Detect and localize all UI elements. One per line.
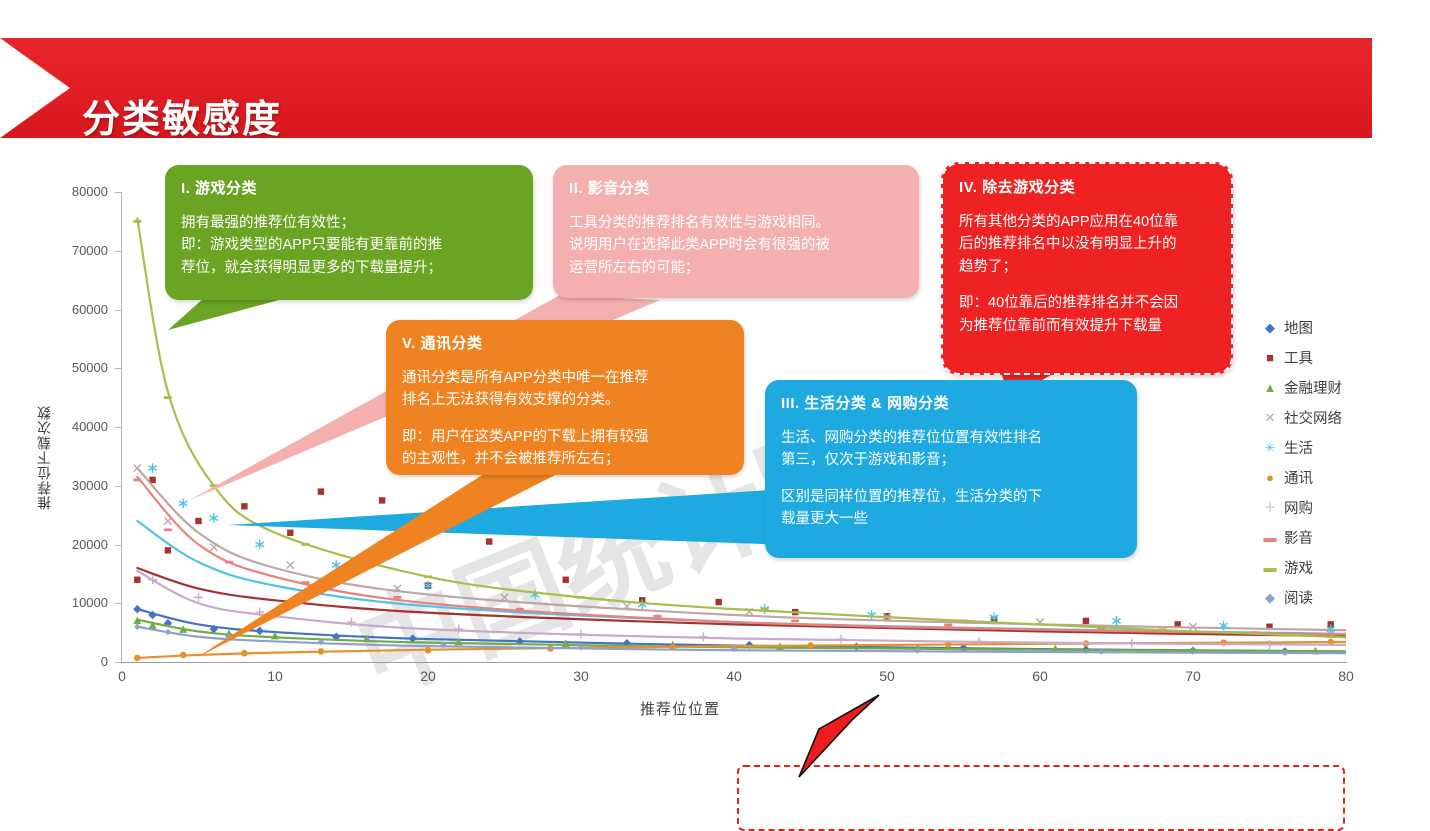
page-title: 分类敏感度 [82, 88, 282, 143]
y-axis-tick [115, 662, 121, 663]
data-point-marker [133, 220, 141, 223]
x-axis-tick-label: 10 [255, 668, 295, 684]
data-point-marker [1327, 635, 1335, 638]
callout-life-body-1: 生活、网购分类的推荐位位置有效性排名 第三，仅次于游戏和影音； [781, 427, 1121, 472]
data-point-marker [516, 608, 524, 611]
data-point-marker [287, 530, 293, 536]
callout-excluding-games[interactable]: IV. 除去游戏分类 所有其他分类的APP应用在40位靠 后的推荐排名中以没有明… [941, 162, 1233, 375]
chart-legend: ◆地图■工具▲金融理财✕社交网络✳生活●通讯＋网购▬影音▬游戏◆阅读 [1262, 312, 1392, 612]
legend-item-工具[interactable]: ■工具 [1262, 342, 1392, 372]
data-point-marker [241, 503, 247, 509]
y-axis-tick-label: 80000 [38, 184, 108, 199]
legend-item-label: 金融理财 [1284, 377, 1342, 398]
data-point-marker [1112, 616, 1120, 626]
data-point-marker [944, 624, 952, 627]
data-point-marker [165, 629, 171, 635]
legend-marker-icon: ＋ [1262, 501, 1278, 514]
data-point-marker [379, 497, 385, 503]
data-point-marker [1158, 628, 1166, 631]
highlight-arrow-icon [793, 693, 883, 783]
callout-media-title: II. 影音分类 [569, 177, 903, 198]
legend-item-网购[interactable]: ＋网购 [1262, 492, 1392, 522]
x-axis-tick-label: 0 [102, 668, 142, 684]
data-point-marker [134, 465, 141, 472]
y-axis-tick [115, 251, 121, 252]
legend-item-label: 社交网络 [1284, 407, 1342, 428]
y-axis-tick-label: 60000 [38, 302, 108, 317]
data-point-marker [531, 590, 539, 600]
y-axis-tick-label: 0 [38, 654, 108, 669]
data-point-marker [134, 655, 141, 662]
legend-item-金融理财[interactable]: ▲金融理财 [1262, 372, 1392, 402]
data-point-marker [256, 627, 264, 635]
y-axis-tick-label: 50000 [38, 360, 108, 375]
legend-marker-icon: ◆ [1262, 591, 1278, 604]
data-point-marker [302, 543, 310, 546]
data-point-marker [761, 608, 769, 611]
legend-item-通讯[interactable]: ●通讯 [1262, 462, 1392, 492]
banner-notch [0, 38, 70, 138]
data-point-marker [791, 619, 799, 622]
x-axis-line [121, 662, 1347, 663]
data-point-marker [180, 652, 187, 659]
x-axis-tick-label: 50 [867, 668, 907, 684]
callout-game-title: I. 游戏分类 [181, 177, 517, 198]
trend-line [137, 477, 1346, 634]
x-axis-tick-label: 30 [561, 668, 601, 684]
x-axis-tick-label: 80 [1326, 668, 1366, 684]
data-point-marker [318, 488, 324, 494]
data-point-marker [133, 478, 141, 481]
data-point-marker [164, 528, 172, 531]
y-axis-tick [115, 192, 121, 193]
legend-item-label: 生活 [1284, 437, 1313, 458]
data-point-marker [332, 560, 340, 570]
legend-item-游戏[interactable]: ▬游戏 [1262, 552, 1392, 582]
callout-life-title: III. 生活分类 & 网购分类 [781, 392, 1121, 413]
legend-item-label: 通讯 [1284, 467, 1313, 488]
data-point-marker [302, 581, 310, 584]
y-axis-tick [115, 545, 121, 546]
callout-media-body: 工具分类的推荐排名有效性与游戏相同。 说明用户在选择此类APP时会有很强的被 运… [569, 212, 903, 279]
data-point-marker [868, 610, 876, 620]
data-point-marker [716, 599, 722, 605]
data-point-marker [164, 396, 172, 399]
data-point-marker [563, 577, 569, 583]
legend-item-label: 阅读 [1284, 587, 1313, 608]
legend-marker-icon: ✕ [1262, 411, 1278, 424]
callout-game[interactable]: I. 游戏分类 拥有最强的推荐位有效性； 即：游戏类型的APP只要能有更靠前的推… [165, 165, 533, 300]
legend-item-阅读[interactable]: ◆阅读 [1262, 582, 1392, 612]
callout-communication[interactable]: V. 通讯分类 通讯分类是所有APP分类中唯一在推荐 排名上无法获得有效支撑的分… [386, 320, 744, 475]
y-axis-tick-label: 10000 [38, 595, 108, 610]
legend-marker-icon: ▲ [1262, 381, 1278, 394]
data-point-marker [577, 629, 586, 638]
series-工具 [134, 477, 1346, 636]
legend-marker-icon: ▬ [1262, 561, 1278, 574]
callout-life-shopping[interactable]: III. 生活分类 & 网购分类 生活、网购分类的推荐位位置有效性排名 第三，仅… [765, 380, 1137, 558]
legend-item-label: 地图 [1284, 317, 1313, 338]
data-point-marker [807, 642, 814, 649]
x-axis-tick-label: 70 [1173, 668, 1213, 684]
data-point-marker [225, 561, 233, 564]
data-point-marker [960, 619, 968, 622]
y-axis-tick [115, 603, 121, 604]
callout-media[interactable]: II. 影音分类 工具分类的推荐排名有效性与游戏相同。 说明用户在选择此类APP… [553, 165, 919, 298]
callout-comm-body-1: 通讯分类是所有APP分类中唯一在推荐 排名上无法获得有效支撑的分类。 [402, 367, 728, 412]
legend-item-label: 影音 [1284, 527, 1313, 548]
data-point-marker [194, 593, 203, 602]
data-point-marker [1083, 618, 1089, 624]
data-point-marker [318, 648, 325, 655]
data-point-marker [425, 647, 432, 654]
legend-marker-icon: ● [1262, 471, 1278, 484]
legend-item-生活[interactable]: ✳生活 [1262, 432, 1392, 462]
legend-item-label: 网购 [1284, 497, 1313, 518]
data-point-marker [699, 632, 708, 641]
legend-marker-icon: ✳ [1262, 441, 1278, 454]
x-axis-title: 推荐位位置 [640, 698, 720, 719]
data-point-marker [837, 635, 846, 644]
data-point-marker [210, 544, 217, 551]
title-banner: 分类敏感度 [0, 38, 1372, 138]
data-point-marker [134, 624, 140, 630]
callout-nogame-title: IV. 除去游戏分类 [959, 176, 1215, 197]
legend-marker-icon: ■ [1262, 351, 1278, 364]
x-axis-tick-label: 40 [714, 668, 754, 684]
data-point-marker [287, 561, 294, 568]
data-point-marker [454, 625, 463, 634]
callout-nogame-body-1: 所有其他分类的APP应用在40位靠 后的推荐排名中以没有明显上升的 趋势了； [959, 211, 1215, 278]
callout-comm-body-2: 即：用户在这类APP的下载上拥有较强 的主观性，并不会被推荐所左右； [402, 426, 728, 471]
slide-canvas: 分类敏感度 中国统计网 推荐位下载次数 推荐位位置 01000020000300… [0, 0, 1430, 803]
data-point-marker [165, 547, 171, 553]
y-axis-tick-label: 30000 [38, 478, 108, 493]
callout-nogame-body-2: 即：40位靠后的推荐排名并不会因 为推荐位靠前而有效提升下载量 [959, 292, 1215, 337]
data-point-marker [654, 615, 662, 618]
data-point-marker [1127, 639, 1136, 648]
legend-marker-icon: ◆ [1262, 321, 1278, 334]
y-axis-tick [115, 310, 121, 311]
callout-game-body: 拥有最强的推荐位有效性； 即：游戏类型的APP只要能有更靠前的推 荐位，就会获得… [181, 212, 517, 279]
legend-item-地图[interactable]: ◆地图 [1262, 312, 1392, 342]
data-point-marker [210, 513, 218, 523]
x-axis-tick-label: 60 [1020, 668, 1060, 684]
data-point-marker [256, 540, 264, 550]
data-point-marker [210, 484, 218, 487]
legend-item-影音[interactable]: ▬影音 [1262, 522, 1392, 552]
data-point-marker [241, 650, 248, 657]
legend-item-社交网络[interactable]: ✕社交网络 [1262, 402, 1392, 432]
y-axis-tick [115, 427, 121, 428]
data-point-marker [501, 594, 508, 601]
x-axis-tick-label: 20 [408, 668, 448, 684]
legend-item-label: 游戏 [1284, 557, 1313, 578]
y-axis-tick-label: 70000 [38, 243, 108, 258]
y-axis-tick [115, 368, 121, 369]
callout-life-body-2: 区别是同样位置的推荐位，生活分类的下 载量更大一些 [781, 486, 1121, 531]
series-影音 [133, 477, 1346, 634]
data-point-marker [195, 518, 201, 524]
legend-item-label: 工具 [1284, 347, 1313, 368]
data-point-marker [393, 596, 401, 599]
data-point-marker [852, 643, 860, 651]
y-axis-tick-label: 40000 [38, 419, 108, 434]
callout-comm-title: V. 通讯分类 [402, 332, 728, 353]
legend-marker-icon: ▬ [1262, 531, 1278, 544]
data-point-marker [577, 596, 585, 599]
y-axis-tick [115, 486, 121, 487]
data-point-marker [148, 463, 156, 473]
data-point-marker [424, 575, 432, 578]
data-point-marker [133, 605, 141, 613]
data-point-marker [486, 538, 492, 544]
data-point-marker [179, 499, 187, 509]
y-axis-tick-label: 20000 [38, 537, 108, 552]
data-point-marker [134, 577, 140, 583]
